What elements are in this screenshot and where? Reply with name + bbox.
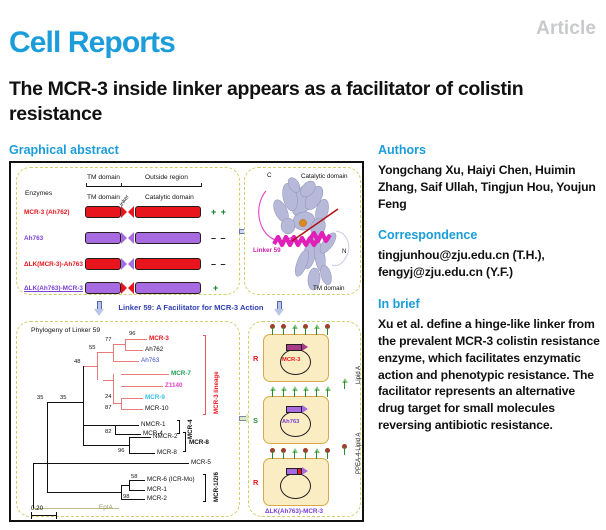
middle-banner: Linker 59: A Facilitator for MCR-3 Actio… (16, 299, 361, 319)
catalytic-domain-bar-row-3 (135, 282, 201, 294)
lipid-a-modified-3-1 (280, 448, 287, 459)
gene-label-1: MCR-3 (282, 357, 300, 363)
activity-sign-row-3: + (213, 283, 219, 293)
activity-sign-row-2: – – (211, 259, 227, 269)
lipid-a-native-2-0 (269, 386, 276, 397)
inner-label-catalytic-domain: Catalytic domain (145, 194, 194, 201)
protein-ribbon-svg (248, 171, 357, 291)
clade-label-mcr-4: MCR-4 (187, 419, 194, 439)
gene-cassette-2 (286, 406, 308, 413)
legend-lipid-a-label: Lipid A (356, 366, 362, 384)
catalytic-domain-bar-row-0 (135, 206, 201, 218)
lipid-a-native-2-5 (324, 386, 331, 397)
lipid-a-modified-1-0 (269, 324, 276, 335)
lipid-a-modified-1-3 (324, 324, 331, 335)
correspondence-heading: Correspondence (378, 228, 602, 242)
panel-d-caption: ΔLK(Ah763)-MCR-3 (265, 508, 323, 515)
clade-label-mcr-3-lineage: MCR-3 lineage (213, 371, 220, 414)
taxon-label-nmcr-2: NMCR-2 (153, 433, 178, 440)
lipid-a-native-3-1 (313, 448, 320, 459)
scale-bar-value: 0.20 (31, 505, 43, 512)
enzyme-name-row-0: MCR-3 (Ah762) (24, 209, 69, 216)
panel-enzyme-architecture: Enzymes TM domain Outside region TM doma… (16, 167, 240, 295)
bootstrap-4: 24 (105, 394, 111, 400)
bootstrap-2: 55 (89, 345, 95, 351)
graphical-abstract-heading: Graphical abstract (9, 143, 119, 157)
panel-protein-structure: C Catalytic domain Linker 59 N TM domain (244, 167, 361, 295)
lipid-a-native-1-0 (291, 324, 298, 335)
bootstrap-6: 35 (60, 395, 66, 401)
paper-first-page: Article Cell Reports The MCR-3 inside li… (0, 0, 606, 530)
linker-bowtie-row-1 (121, 232, 134, 244)
legend-lipid-a-icon (341, 378, 348, 389)
linker-bowtie-row-0 (121, 206, 134, 218)
linker-bowtie-row-3 (121, 282, 134, 294)
taxon-label-mcr-5: MCR-5 (191, 459, 211, 466)
authors-block: Authors Yongchang Xu, Haiyi Chen, Huimin… (378, 143, 602, 212)
activity-sign-row-1: – – (211, 233, 227, 243)
taxon-label-mcr-7: MCR-7 (171, 370, 191, 377)
taxon-label-ah762: Ah762 (145, 346, 163, 353)
right-column: Authors Yongchang Xu, Haiyi Chen, Huimin… (378, 143, 602, 450)
middle-banner-text: Linker 59: A Facilitator for MCR-3 Actio… (76, 303, 306, 312)
bootstrap-3: 48 (74, 359, 80, 365)
clade-label-mcr-1-2-6: MCR-1/2/6 (213, 472, 220, 502)
catalytic-domain-bar-row-2 (135, 258, 201, 270)
structure-label-catalytic-domain: Catalytic domain (301, 173, 348, 180)
correspondence-emails[interactable]: tingjunhou@zju.edu.cn (T.H.), fengyj@zju… (378, 247, 602, 281)
catalytic-domain-bar-row-1 (135, 232, 201, 244)
linker-bowtie-row-2 (121, 258, 134, 270)
bootstrap-5: 87 (105, 405, 111, 411)
in-brief-heading: In brief (378, 297, 602, 311)
graphical-abstract-figure: Enzymes TM domain Outside region TM doma… (9, 161, 364, 522)
taxon-label-mcr-9: MCR-9 (145, 394, 165, 401)
gene-cassette-1 (286, 344, 308, 351)
tm-domain-bar-row-2 (85, 258, 121, 270)
structure-label-n-terminus: N (342, 248, 347, 255)
in-brief-text: Xu et al. define a hinge-like linker fro… (378, 316, 602, 434)
phenotype-label-3: R (253, 478, 258, 487)
taxon-label-mcr-1: MCR-1 (147, 486, 167, 493)
tm-domain-bar-row-0 (85, 206, 121, 218)
lipid-a-native-2-4 (313, 386, 320, 397)
taxon-label-ah763: Ah763 (141, 357, 159, 364)
bootstrap-7: 82 (105, 429, 111, 435)
tm-domain-bar-row-3 (85, 282, 121, 294)
bacterial-cell-3 (263, 458, 329, 506)
clade-label-mcr-8: MCR-8 (189, 439, 209, 446)
taxon-label-mcr-3: MCR-3 (149, 335, 169, 342)
lipid-a-modified-3-2 (302, 448, 309, 459)
taxon-label-mcr-10: MCR-10 (145, 405, 168, 412)
article-type-label: Article (536, 18, 596, 40)
panel-cell-phenotypes: MCR-3 R Ah763 S (248, 321, 361, 517)
bracket-label-tm-domain: TM domain (87, 174, 120, 181)
lipid-a-native-2-3 (302, 386, 309, 397)
enzyme-name-row-1: Ah763 (24, 235, 43, 242)
inner-label-tm-domain: TM domain (87, 194, 120, 201)
lipid-a-modified-3-3 (324, 448, 331, 459)
taxon-label-nmcr-1: NMCR-1 (141, 421, 166, 428)
in-brief-block: In brief Xu et al. define a hinge-like l… (378, 297, 602, 434)
taxon-label-mcr-6: MCR-6 (ICR-Mo) (147, 476, 195, 483)
tm-domain-bar-row-1 (85, 232, 121, 244)
lipid-a-native-2-1 (280, 386, 287, 397)
bootstrap-0: 96 (129, 331, 135, 337)
lipid-a-native-3-0 (291, 448, 298, 459)
lipid-a-native-1-1 (313, 324, 320, 335)
phenotype-label-1: R (253, 354, 258, 363)
lipid-a-modified-3-0 (269, 448, 276, 459)
phylogeny-title: Phylogeny of Linker 59 (31, 327, 100, 334)
bootstrap-10: 58 (131, 474, 137, 480)
correspondence-block: Correspondence tingjunhou@zju.edu.cn (T.… (378, 228, 602, 281)
authors-list: Yongchang Xu, Haiyi Chen, Huimin Zhang, … (378, 162, 602, 212)
gene-cassette-3 (286, 468, 308, 475)
authors-heading: Authors (378, 143, 602, 157)
plasmid-3 (280, 473, 311, 499)
bracket-label-outside-region: Outside region (145, 174, 188, 181)
bootstrap-8: 96 (118, 448, 124, 454)
taxon-label-mcr-2: MCR-2 (147, 495, 167, 502)
taxon-label-epta: EptA (99, 504, 113, 511)
lipid-a-modified-1-1 (280, 324, 287, 335)
bootstrap-11: 98 (123, 494, 129, 500)
page-title: The MCR-3 inside linker appears as a fac… (9, 77, 589, 127)
lipid-a-modified-1-2 (302, 324, 309, 335)
structure-label-linker-59: Linker 59 (253, 247, 281, 254)
enzyme-name-row-2: ΔLK(MCR-3)-Ah763 (24, 261, 83, 268)
activity-sign-row-0: + + (211, 207, 227, 217)
bootstrap-1: 77 (105, 337, 111, 343)
protein-structure-image (248, 171, 357, 291)
enzymes-row-header: Enzymes (25, 190, 52, 197)
structure-label-c-terminus: C (267, 172, 272, 179)
down-arrow-right (274, 301, 284, 317)
taxon-label-z1140: Z1140 (165, 382, 183, 389)
bacterial-cell-1: MCR-3 (263, 334, 329, 382)
enzyme-name-row-3: ΔLK(Ah763)-MCR-3 (24, 285, 83, 292)
legend-ppea-lipid-a-icon (341, 444, 348, 455)
lipid-a-native-2-2 (291, 386, 298, 397)
phenotype-label-2: S (253, 416, 258, 425)
bacterial-cell-2: Ah763 (263, 396, 329, 444)
structure-label-tm-domain: TM domain (313, 285, 345, 292)
panel-phylogeny: Phylogeny of Linker 59 (16, 321, 240, 517)
bootstrap-9: 35 (37, 395, 43, 401)
gene-label-2: Ah763 (282, 419, 299, 425)
legend-ppea-lipid-a-label: PPEA-4-Lipid A (356, 433, 362, 474)
taxon-label-mcr-8: MCR-8 (157, 449, 177, 456)
journal-logo: Cell Reports (9, 28, 175, 58)
